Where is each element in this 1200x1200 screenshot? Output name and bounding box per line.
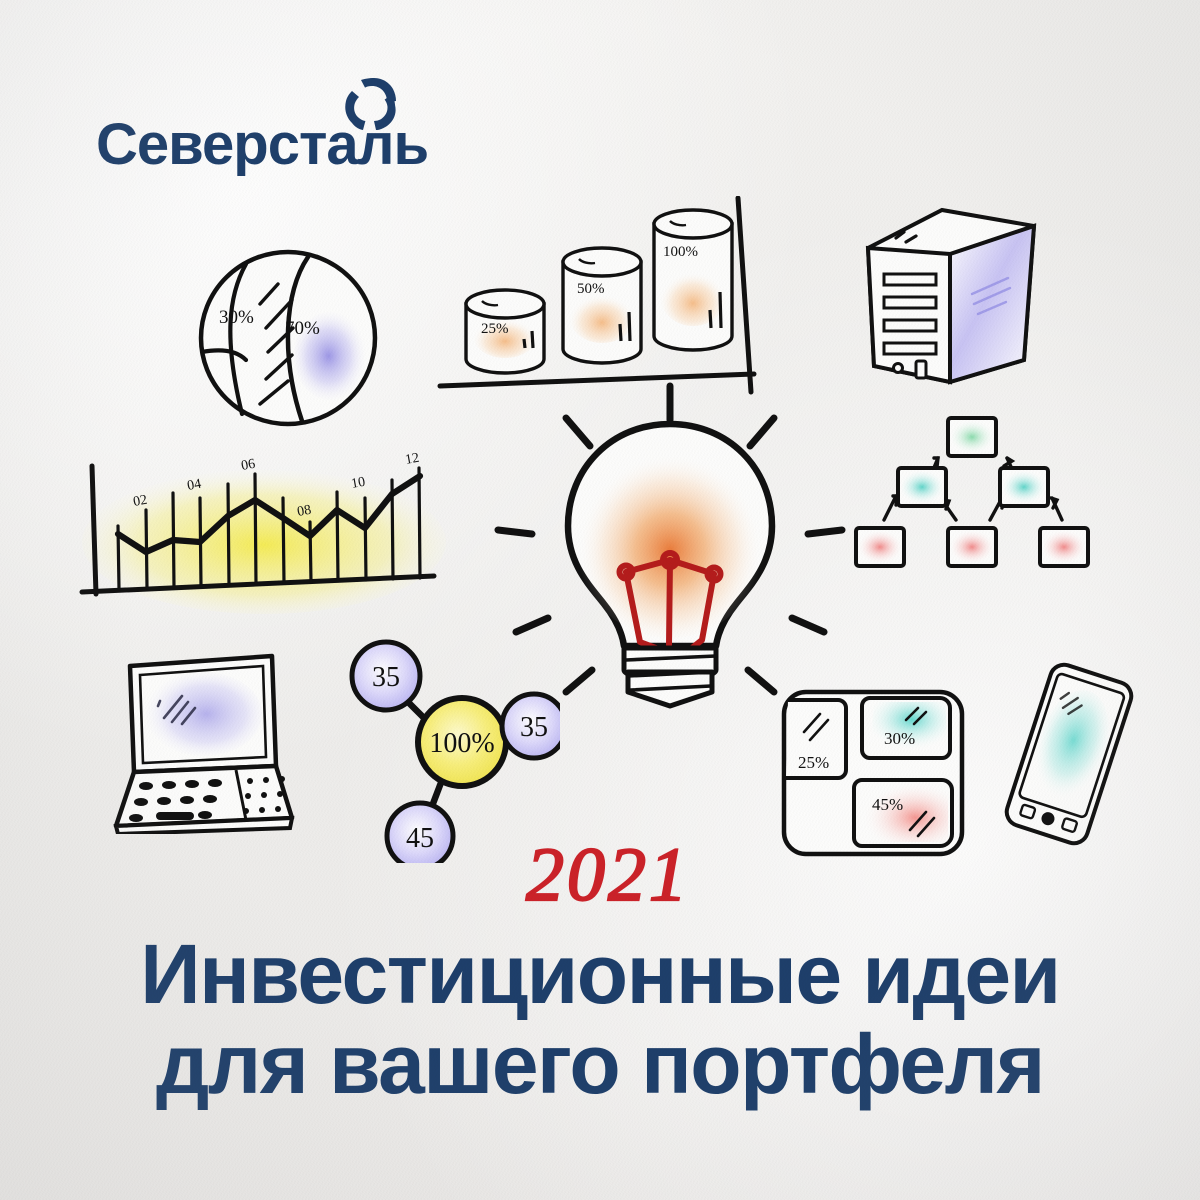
page-title: Инвестиционные идеи для вашего портфеля: [0, 930, 1200, 1110]
year-text: 2021: [526, 833, 690, 917]
treemap-label-25: 25%: [798, 753, 829, 772]
node-label-center: 100%: [429, 728, 494, 759]
treemap-label-30: 30%: [884, 729, 915, 748]
treemap-label-45: 45%: [872, 795, 903, 814]
server-tower-icon: [858, 196, 1048, 406]
node-label-45: 45: [406, 823, 434, 854]
year-stamp: 2021: [520, 828, 750, 918]
line-tick-02: 02: [132, 493, 148, 510]
line-tick-08: 08: [296, 503, 312, 520]
line-tick-04: 04: [186, 477, 202, 494]
pie-label-30: 30%: [219, 307, 254, 328]
line-chart-icon: 02 04 06 08 10 12: [74, 442, 454, 632]
hierarchy-icon: [850, 410, 1100, 590]
bar-label-3: 100%: [663, 244, 698, 260]
line-tick-10: 10: [350, 475, 366, 492]
pie-chart-icon: 30% 70%: [180, 248, 400, 428]
pie-label-70: 70%: [285, 318, 320, 339]
line-tick-12: 12: [404, 451, 420, 468]
page-title-line1: Инвестиционные идеи: [0, 930, 1200, 1020]
poster-canvas: Северсталь 30%: [0, 0, 1200, 1200]
brand-logo[interactable]: Северсталь: [96, 74, 426, 174]
line-tick-06: 06: [240, 457, 256, 474]
laptop-icon: [96, 644, 306, 834]
node-label-35b: 35: [520, 712, 548, 743]
bar-label-2: 50%: [577, 281, 605, 297]
brand-name: Северсталь: [96, 116, 428, 174]
page-title-line2: для вашего портфеля: [0, 1020, 1200, 1110]
smartphone-icon: [994, 662, 1144, 847]
treemap-icon: 25% 30% 45%: [778, 686, 968, 861]
node-label-35a: 35: [372, 662, 400, 693]
bar-label-1: 25%: [481, 321, 509, 337]
